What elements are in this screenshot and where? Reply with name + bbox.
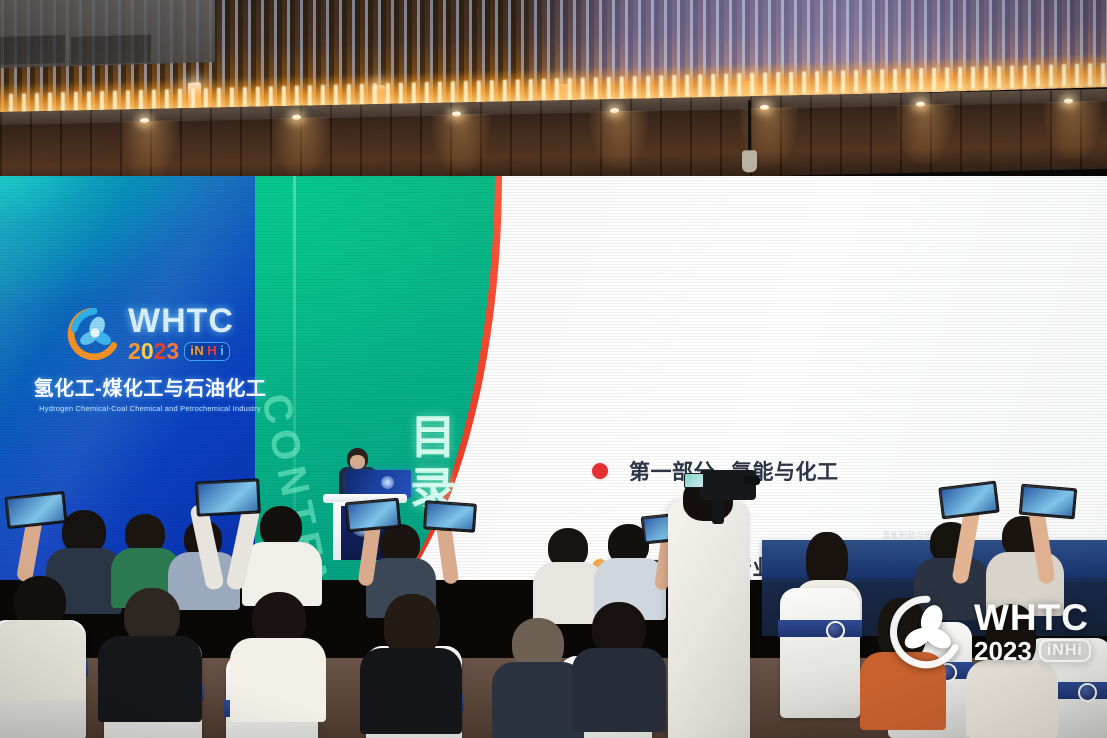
whtc-brand-logo: WHTC 2023 iNHi 氢化工-煤化工与石油化工 Hydrogen Che… xyxy=(24,304,276,413)
chair-sash-knot xyxy=(826,621,845,640)
whtc-watermark: WHTC 2023 iNHi xyxy=(888,586,1088,678)
smartphone xyxy=(4,491,67,529)
badge-part-in: iN xyxy=(190,344,204,359)
conference-photo: WHTC 2023 iNHi 氢化工-煤化工与石油化工 Hydrogen Che… xyxy=(0,0,1107,738)
video-camera xyxy=(700,470,756,500)
smartphone xyxy=(345,498,401,533)
watermark-badge-h: H xyxy=(1065,642,1078,659)
chair-sash xyxy=(778,620,862,637)
smartphone xyxy=(423,500,477,533)
wall-light-cone xyxy=(120,120,178,179)
audience-torso xyxy=(492,662,584,738)
smartphone xyxy=(1019,484,1077,520)
brand-logo-year: 2023 xyxy=(128,340,179,363)
watermark-logo-text: WHTC xyxy=(974,600,1091,635)
audience-torso xyxy=(230,638,326,722)
ceiling-vent-panel xyxy=(0,0,215,68)
smartphone xyxy=(195,478,261,516)
badge-part-i: i xyxy=(220,344,224,359)
audience-torso xyxy=(98,636,202,722)
brand-logo-text: WHTC xyxy=(128,304,234,338)
wall-light-cone xyxy=(272,117,330,176)
camera-grip xyxy=(712,498,724,524)
watermark-year: 2023 xyxy=(974,638,1032,664)
audience-torso xyxy=(0,620,86,700)
wall-light-cone xyxy=(432,114,490,173)
watermark-badge-in: iN xyxy=(1047,642,1065,659)
wall-light-cone xyxy=(896,104,954,163)
audience-torso xyxy=(360,648,462,734)
audience-torso xyxy=(572,648,666,732)
chair-sash-knot xyxy=(1078,683,1097,702)
brand-badge-inhi: iNHi xyxy=(184,342,230,361)
banquet-chair xyxy=(780,588,860,718)
brand-title-en: Hydrogen Chemical-Coal Chemical and Petr… xyxy=(24,404,276,413)
brand-title-cn: 氢化工-煤化工与石油化工 xyxy=(24,372,276,401)
videographer-body xyxy=(668,500,750,738)
whtc-leaf-logo-icon xyxy=(66,308,122,360)
camera-lcd-screen xyxy=(684,473,704,488)
camera-lens-hood xyxy=(744,476,760,485)
watermark-badge-i: i xyxy=(1077,642,1082,659)
wall-light-cone xyxy=(590,110,648,169)
audience-head xyxy=(384,594,440,656)
hanging-microphone xyxy=(748,100,751,152)
speaker-face xyxy=(350,455,365,469)
badge-part-h: H xyxy=(207,344,217,359)
watermark-badge-inhi: iNHi xyxy=(1039,639,1091,663)
watermark-leaf-logo-icon xyxy=(888,593,966,671)
wall-light-cone xyxy=(1044,101,1102,160)
smartphone xyxy=(938,481,999,520)
